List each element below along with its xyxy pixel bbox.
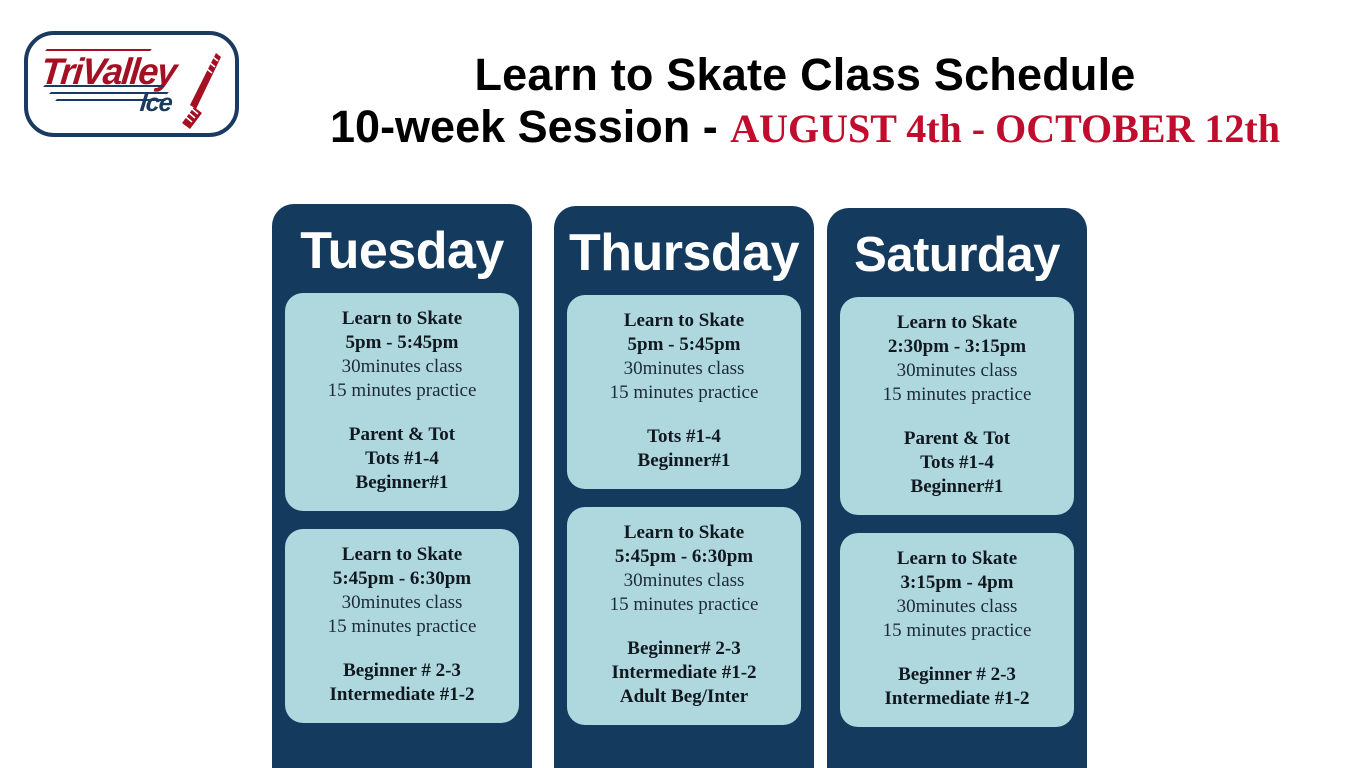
class-time: 5:45pm - 6:30pm bbox=[575, 545, 793, 569]
class-duration: 30minutes class bbox=[575, 357, 793, 381]
class-title: Learn to Skate bbox=[575, 309, 793, 333]
class-card[interactable]: Learn to Skate 5pm - 5:45pm 30minutes cl… bbox=[285, 293, 519, 511]
class-level: Tots #1-4 bbox=[293, 447, 511, 471]
class-level: Intermediate #1-2 bbox=[575, 661, 793, 685]
class-duration: 30minutes class bbox=[575, 569, 793, 593]
class-time: 5pm - 5:45pm bbox=[575, 333, 793, 357]
card-spacer bbox=[575, 617, 793, 637]
day-column-thursday: Thursday Learn to Skate 5pm - 5:45pm 30m… bbox=[554, 206, 814, 768]
class-level: Adult Beg/Inter bbox=[575, 685, 793, 709]
day-heading-saturday: Saturday bbox=[840, 208, 1074, 297]
class-card[interactable]: Learn to Skate 2:30pm - 3:15pm 30minutes… bbox=[840, 297, 1074, 515]
practice-duration: 15 minutes practice bbox=[848, 383, 1066, 407]
class-duration: 30minutes class bbox=[848, 595, 1066, 619]
class-card[interactable]: Learn to Skate 5:45pm - 6:30pm 30minutes… bbox=[285, 529, 519, 723]
class-level: Tots #1-4 bbox=[575, 425, 793, 449]
class-time: 5pm - 5:45pm bbox=[293, 331, 511, 355]
class-level: Beginner# 2-3 bbox=[575, 637, 793, 661]
class-level: Beginner#1 bbox=[293, 471, 511, 495]
practice-duration: 15 minutes practice bbox=[575, 381, 793, 405]
practice-duration: 15 minutes practice bbox=[848, 619, 1066, 643]
class-level: Beginner # 2-3 bbox=[848, 663, 1066, 687]
class-title: Learn to Skate bbox=[848, 311, 1066, 335]
class-duration: 30minutes class bbox=[293, 591, 511, 615]
day-column-saturday: Saturday Learn to Skate 2:30pm - 3:15pm … bbox=[827, 208, 1087, 768]
day-heading-thursday: Thursday bbox=[567, 206, 801, 295]
class-level: Parent & Tot bbox=[848, 427, 1066, 451]
class-time: 2:30pm - 3:15pm bbox=[848, 335, 1066, 359]
practice-duration: 15 minutes practice bbox=[293, 615, 511, 639]
class-title: Learn to Skate bbox=[848, 547, 1066, 571]
card-spacer bbox=[848, 643, 1066, 663]
class-title: Learn to Skate bbox=[293, 543, 511, 567]
class-level: Parent & Tot bbox=[293, 423, 511, 447]
class-time: 5:45pm - 6:30pm bbox=[293, 567, 511, 591]
class-title: Learn to Skate bbox=[575, 521, 793, 545]
day-column-tuesday: Tuesday Learn to Skate 5pm - 5:45pm 30mi… bbox=[272, 204, 532, 768]
schedule-poster: TriValley Ice Learn to Skate Class Sched… bbox=[0, 0, 1366, 768]
day-heading-tuesday: Tuesday bbox=[285, 204, 519, 293]
practice-duration: 15 minutes practice bbox=[293, 379, 511, 403]
card-spacer bbox=[848, 407, 1066, 427]
class-card[interactable]: Learn to Skate 5pm - 5:45pm 30minutes cl… bbox=[567, 295, 801, 489]
schedule-columns: Tuesday Learn to Skate 5pm - 5:45pm 30mi… bbox=[0, 0, 1366, 768]
card-spacer bbox=[575, 405, 793, 425]
class-title: Learn to Skate bbox=[293, 307, 511, 331]
class-duration: 30minutes class bbox=[293, 355, 511, 379]
class-level: Beginner#1 bbox=[848, 475, 1066, 499]
class-card[interactable]: Learn to Skate 3:15pm - 4pm 30minutes cl… bbox=[840, 533, 1074, 727]
card-spacer bbox=[293, 639, 511, 659]
class-level: Tots #1-4 bbox=[848, 451, 1066, 475]
practice-duration: 15 minutes practice bbox=[575, 593, 793, 617]
class-level: Intermediate #1-2 bbox=[848, 687, 1066, 711]
class-time: 3:15pm - 4pm bbox=[848, 571, 1066, 595]
class-level: Beginner # 2-3 bbox=[293, 659, 511, 683]
class-level: Intermediate #1-2 bbox=[293, 683, 511, 707]
class-duration: 30minutes class bbox=[848, 359, 1066, 383]
card-spacer bbox=[293, 403, 511, 423]
class-level: Beginner#1 bbox=[575, 449, 793, 473]
class-card[interactable]: Learn to Skate 5:45pm - 6:30pm 30minutes… bbox=[567, 507, 801, 725]
